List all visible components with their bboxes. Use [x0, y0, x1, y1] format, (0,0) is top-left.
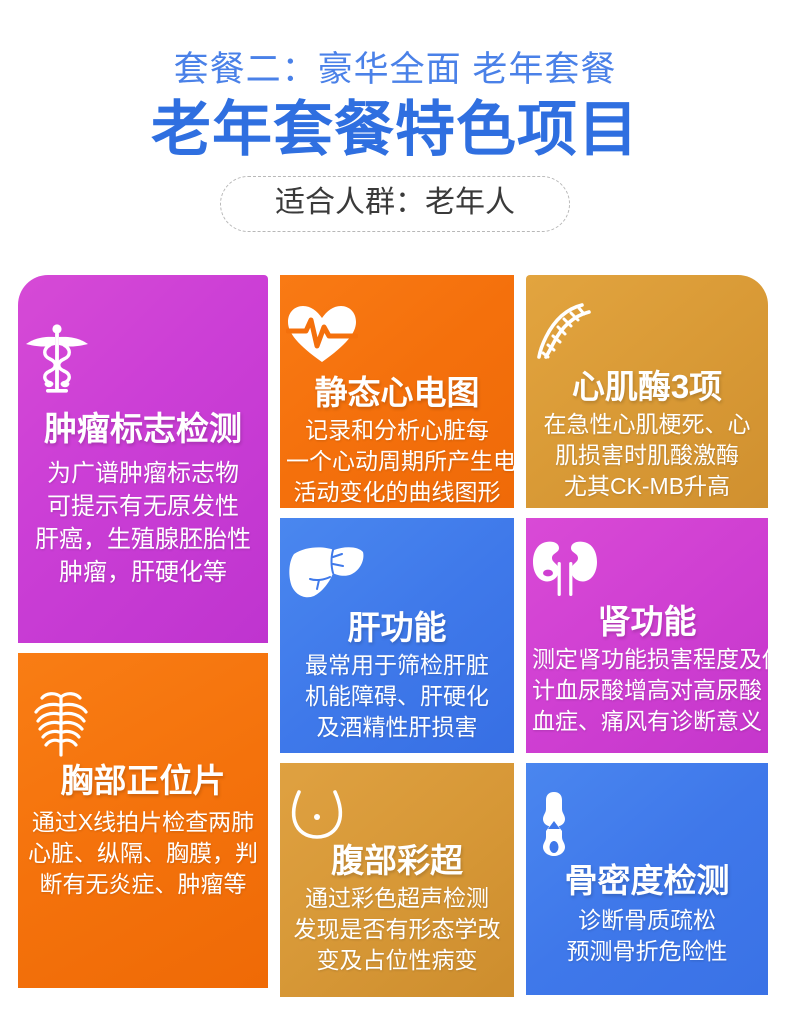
- card-resting-ecg[interactable]: 静态心电图 记录和分析心脏每 一个心动周期所产生电 活动变化的曲线图形: [280, 275, 514, 508]
- card-title: 肿瘤标志检测: [24, 409, 262, 449]
- ribcage-icon: [24, 691, 262, 759]
- page-header: 套餐二：豪华全面 老年套餐 老年套餐特色项目 适合人群：老年人: [0, 0, 790, 232]
- card-title: 腹部彩超: [286, 841, 508, 881]
- card-title: 胸部正位片: [24, 761, 262, 801]
- service-card-grid: 肿瘤标志检测 为广谱肿瘤标志物 可提示有无原发性 肝癌，生殖腺胚胎性 肿瘤，肝硬…: [18, 275, 768, 997]
- card-description: 通过X线拍片检查两肺 心脏、纵隔、胸膜，判 断有无炎症、肿瘤等: [24, 807, 262, 900]
- card-title: 骨密度检测: [532, 861, 762, 901]
- card-abdominal-ultrasound[interactable]: 腹部彩超 通过彩色超声检测 发现是否有形态学改 变及占位性病变: [280, 763, 514, 997]
- package-eyebrow: 套餐二：豪华全面 老年套餐: [0, 48, 790, 92]
- card-tumor-marker[interactable]: 肿瘤标志检测 为广谱肿瘤标志物 可提示有无原发性 肝癌，生殖腺胚胎性 肿瘤，肝硬…: [18, 275, 268, 643]
- card-description: 通过彩色超声检测 发现是否有形态学改 变及占位性病变: [286, 883, 508, 976]
- card-kidney-function[interactable]: 肾功能 测定肾功能损害程度及估 计血尿酸增高对高尿酸 血症、痛风有诊断意义: [526, 518, 768, 753]
- card-description: 在急性心肌梗死、心 肌损害时肌酸激酶 尤其CK-MB升高: [532, 409, 762, 502]
- card-title: 静态心电图: [286, 373, 508, 413]
- card-title: 心肌酶3项: [532, 367, 762, 407]
- card-description: 测定肾功能损害程度及估 计血尿酸增高对高尿酸 血症、痛风有诊断意义: [532, 644, 762, 737]
- audience-pill-wrap: 适合人群：老年人: [0, 176, 790, 232]
- kidney-icon: [532, 540, 762, 598]
- audience-badge: 适合人群：老年人: [220, 176, 570, 232]
- card-chest-xray[interactable]: 胸部正位片 通过X线拍片检查两肺 心脏、纵隔、胸膜，判 断有无炎症、肿瘤等: [18, 653, 268, 988]
- card-description: 诊断骨质疏松 预测骨折危险性: [532, 905, 762, 967]
- card-title: 肾功能: [532, 602, 762, 642]
- card-bone-density[interactable]: 骨密度检测 诊断骨质疏松 预测骨折危险性: [526, 763, 768, 995]
- abdomen-icon: [286, 789, 508, 841]
- caduceus-icon: [24, 323, 262, 397]
- page-title: 老年套餐特色项目: [0, 96, 790, 164]
- card-description: 为广谱肿瘤标志物 可提示有无原发性 肝癌，生殖腺胚胎性 肿瘤，肝硬化等: [24, 457, 262, 589]
- card-cardiac-enzymes[interactable]: 心肌酶3项 在急性心肌梗死、心 肌损害时肌酸激酶 尤其CK-MB升高: [526, 275, 768, 508]
- heart-pulse-icon: [286, 303, 508, 365]
- card-title: 肝功能: [286, 608, 508, 648]
- liver-icon: [286, 544, 508, 602]
- card-description: 最常用于筛检肝脏 机能障碍、肝硬化 及酒精性肝损害: [286, 650, 508, 743]
- knee-bone-icon: [532, 791, 762, 857]
- card-liver-function[interactable]: 肝功能 最常用于筛检肝脏 机能障碍、肝硬化 及酒精性肝损害: [280, 518, 514, 753]
- dna-helix-icon: [532, 299, 762, 363]
- card-description: 记录和分析心脏每 一个心动周期所产生电 活动变化的曲线图形: [286, 415, 508, 508]
